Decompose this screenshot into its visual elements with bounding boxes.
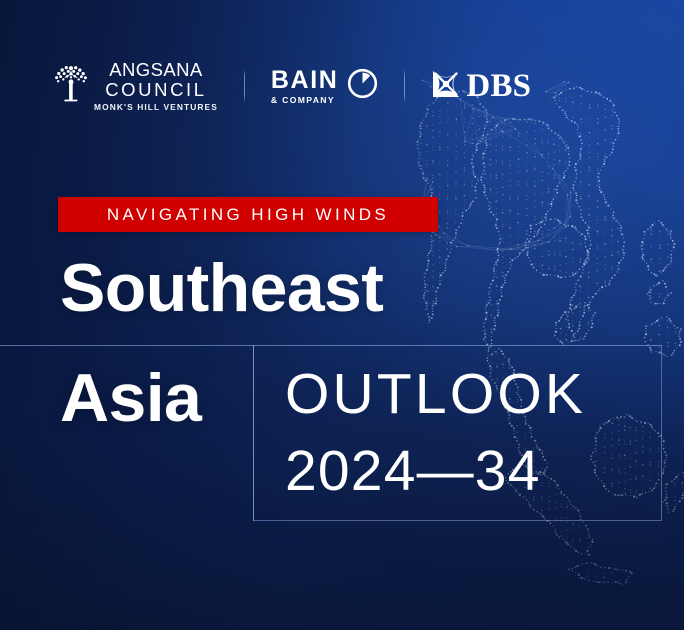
- logo-angsana-council: ANGSANA COUNCIL MONK'S HILL VENTURES: [52, 61, 218, 111]
- tree-icon: [52, 62, 90, 111]
- vertical-rule: [253, 345, 254, 521]
- pie-circle-icon: [347, 68, 378, 104]
- report-cover: ANGSANA COUNCIL MONK'S HILL VENTURES BAI…: [0, 0, 684, 630]
- subtitle-years: 2024—34: [285, 443, 541, 500]
- logo-bain-and-company: BAIN & COMPANY: [271, 68, 379, 105]
- page-title-line1: Southeast: [60, 254, 383, 322]
- tagline-text: NAVIGATING HIGH WINDS: [107, 205, 389, 225]
- logo-dbs: DBS: [431, 69, 531, 104]
- logo-angsana-line2: COUNCIL: [105, 81, 206, 100]
- page-title-line2: Asia: [60, 364, 201, 432]
- logo-dbs-wordmark: DBS: [466, 70, 531, 103]
- subtitle-outlook: OUTLOOK: [285, 366, 586, 423]
- logo-bain-line1: BAIN: [271, 68, 339, 93]
- logo-angsana-line1: ANGSANA: [109, 61, 202, 80]
- partner-logo-bar: ANGSANA COUNCIL MONK'S HILL VENTURES BAI…: [52, 60, 531, 112]
- logo-bain-line2: & COMPANY: [271, 96, 339, 105]
- dbs-star-icon: [431, 69, 461, 104]
- logo-angsana-line3: MONK'S HILL VENTURES: [94, 103, 218, 111]
- tagline-banner: NAVIGATING HIGH WINDS: [58, 197, 438, 232]
- logo-divider-2: [404, 69, 405, 103]
- logo-divider-1: [244, 69, 245, 103]
